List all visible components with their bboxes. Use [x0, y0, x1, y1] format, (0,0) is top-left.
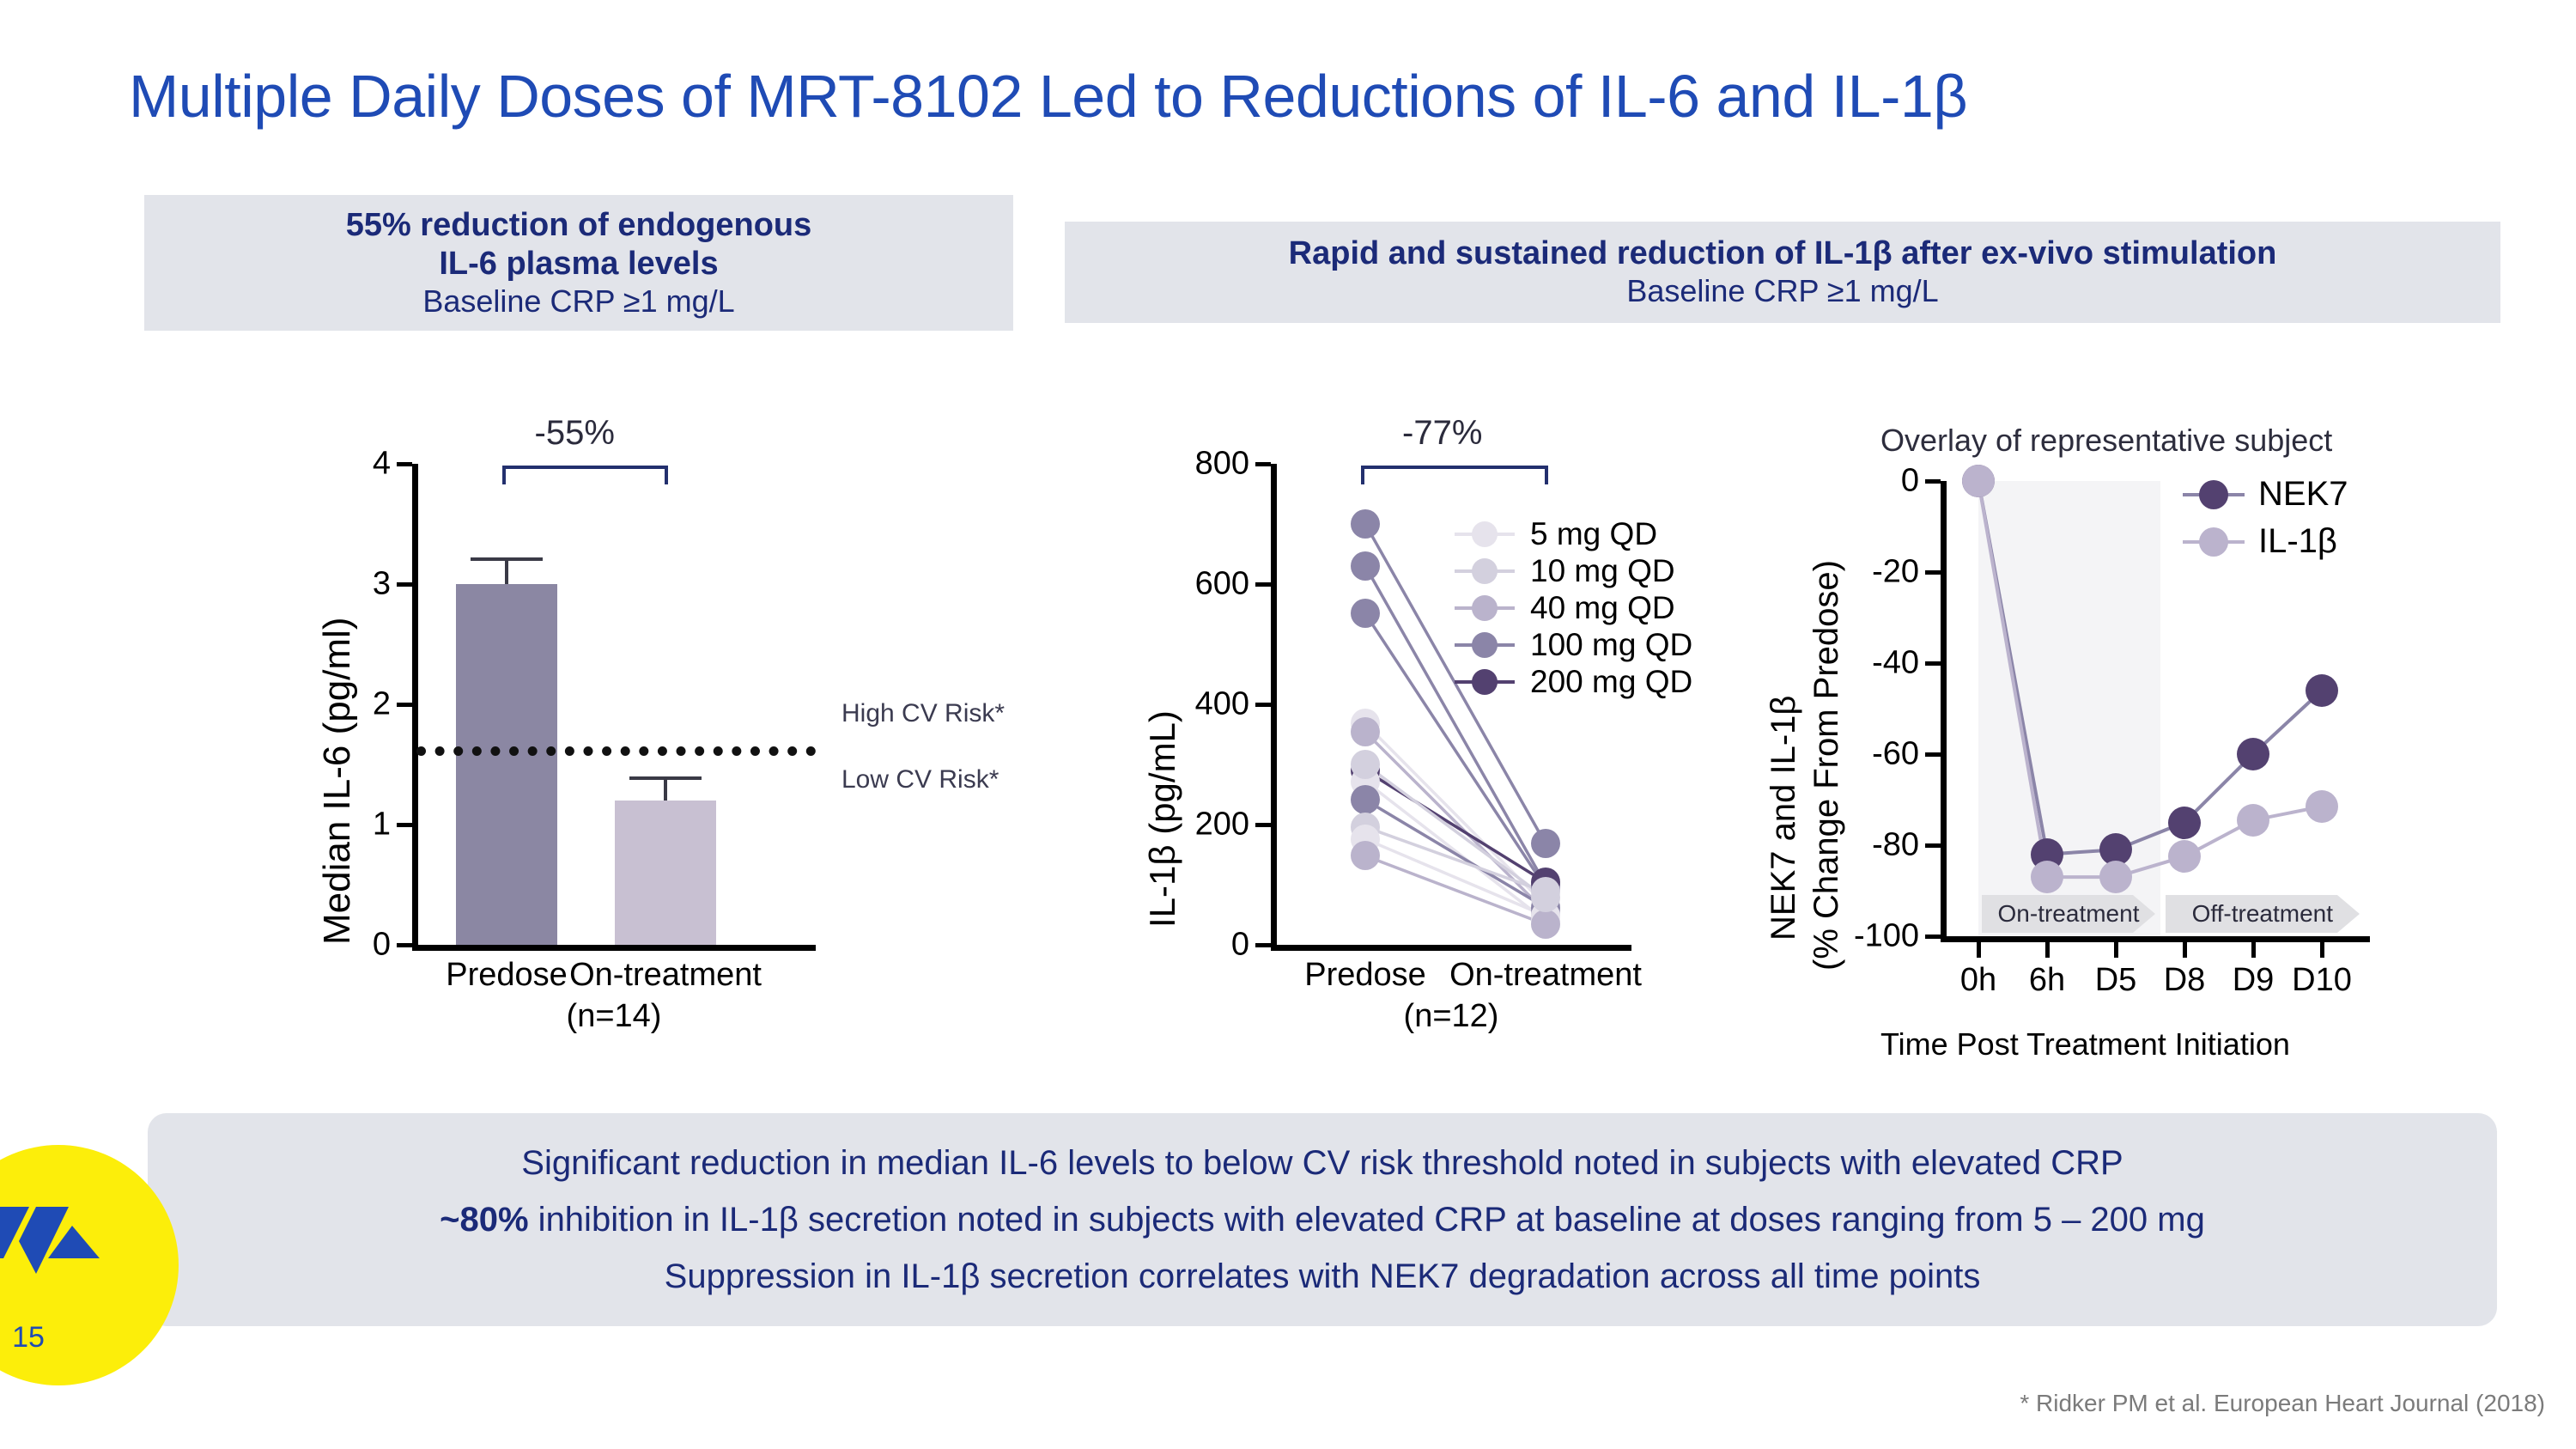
- data-point: [1351, 717, 1380, 746]
- legend-label: 100 mg QD: [1530, 627, 1692, 663]
- summary-line-1: Significant reduction in median IL-6 lev…: [521, 1135, 2123, 1191]
- x-tick-label: On-treatment: [519, 957, 811, 994]
- summary-line-2-emphasis: ~80%: [440, 1201, 528, 1239]
- slide-canvas: Multiple Daily Doses of MRT-8102 Led to …: [0, 0, 2576, 1449]
- summary-line-3: Suppression in IL-1β secretion correlate…: [665, 1248, 1981, 1305]
- y-tick: [397, 703, 412, 707]
- comparison-bracket: [1361, 466, 1548, 484]
- data-point-nek7: [2168, 807, 2201, 839]
- legend-label: IL-1β: [2258, 522, 2337, 561]
- comparison-bracket: [502, 466, 668, 484]
- y-tick: [1925, 935, 1941, 939]
- sample-size-label: (n=12): [1271, 998, 1631, 1035]
- data-point: [1351, 750, 1380, 779]
- banner-il6-line3: Baseline CRP ≥1 mg/L: [422, 283, 734, 320]
- y-axis-label-line1: NEK7 and IL-1β: [1765, 696, 1803, 941]
- y-tick-label: 3: [331, 566, 391, 603]
- legend-label: 5 mg QD: [1530, 516, 1657, 552]
- monte-rosa-logo-icon: [0, 1207, 118, 1301]
- timecourse-xaxis-label: Time Post Treatment Initiation: [1880, 1026, 2290, 1062]
- page-title: Multiple Daily Doses of MRT-8102 Led to …: [129, 62, 2499, 131]
- y-tick: [1255, 703, 1271, 707]
- y-tick: [397, 823, 412, 827]
- legend-swatch: [2181, 480, 2246, 509]
- legend-label: 10 mg QD: [1530, 553, 1675, 589]
- legend-item: 100 mg QD: [1451, 626, 1692, 663]
- banner-il1b-line1: Rapid and sustained reduction of IL-1β a…: [1289, 234, 2277, 273]
- legend-item: 40 mg QD: [1451, 589, 1692, 626]
- x-tick: [2045, 942, 2050, 958]
- y-tick: [1925, 752, 1941, 757]
- y-tick: [1255, 823, 1271, 827]
- phase-on-treatment: On-treatment: [1982, 895, 2155, 933]
- y-tick: [1925, 661, 1941, 666]
- legend-item: 5 mg QD: [1451, 515, 1692, 552]
- legend-swatch: [1451, 558, 1518, 584]
- legend-swatch-dot: [1472, 595, 1498, 621]
- y-tick-label: 4: [331, 446, 391, 483]
- data-point-il1: [2168, 840, 2201, 873]
- y-tick: [1255, 582, 1271, 587]
- sample-size-label: (n=14): [412, 998, 816, 1035]
- data-point: [1531, 883, 1560, 912]
- data-point-il1: [1962, 465, 1995, 497]
- on-treatment-shading: [1978, 481, 2160, 936]
- footnote-citation: * Ridker PM et al. European Heart Journa…: [2020, 1390, 2545, 1417]
- legend-swatch-dot: [1472, 669, 1498, 695]
- data-point: [1531, 829, 1560, 858]
- legend-swatch-dot: [1472, 521, 1498, 547]
- data-point-il1: [2237, 804, 2269, 837]
- legend-swatch-dot: [1472, 632, 1498, 658]
- y-tick: [1925, 570, 1941, 575]
- data-point: [1351, 785, 1380, 814]
- x-axis: [1271, 945, 1631, 951]
- bar-on-treatment: [615, 801, 716, 945]
- x-tick: [1977, 942, 1981, 958]
- error-bar-cap: [629, 776, 702, 780]
- data-point: [1351, 509, 1380, 539]
- legend-swatch-dot: [2199, 480, 2228, 509]
- data-point: [1351, 551, 1380, 581]
- summary-box: Significant reduction in median IL-6 lev…: [148, 1113, 2497, 1326]
- y-axis-label: IL-1β (pg/mL): [1142, 710, 1183, 928]
- x-tick: [2183, 942, 2187, 958]
- summary-line-2: ~80% inhibition in IL-1β secretion noted…: [440, 1191, 2205, 1248]
- x-tick: [2320, 942, 2324, 958]
- y-tick-label: 0: [1812, 463, 1919, 500]
- legend-swatch-dot: [1472, 558, 1498, 584]
- x-tick: [2251, 942, 2256, 958]
- error-bar: [505, 557, 508, 584]
- legend-item: NEK7: [2181, 471, 2348, 518]
- x-axis: [1941, 936, 2370, 942]
- x-tick: [2114, 942, 2118, 958]
- legend-label: NEK7: [2258, 475, 2348, 514]
- x-axis: [412, 945, 816, 951]
- y-axis-label: Median IL-6 (pg/ml): [316, 618, 359, 945]
- legend-swatch: [2181, 527, 2246, 557]
- timecourse-title: Overlay of representative subject: [1880, 423, 2332, 459]
- reduction-annotation: -55%: [535, 414, 615, 453]
- y-tick: [1925, 843, 1941, 848]
- cv-risk-threshold-line: [416, 746, 816, 756]
- y-axis-label-line2: (% Change From Predose): [1807, 560, 1846, 971]
- high-cv-risk-label: High CV Risk*: [841, 699, 1005, 728]
- legend-item: 10 mg QD: [1451, 552, 1692, 589]
- y-tick-label: 600: [1151, 566, 1249, 603]
- reduction-annotation: -77%: [1402, 414, 1482, 453]
- y-axis: [1941, 481, 1947, 936]
- x-tick-label: On-treatment: [1400, 957, 1692, 994]
- y-axis: [412, 464, 418, 945]
- legend-label: 40 mg QD: [1530, 590, 1675, 626]
- banner-il1b: Rapid and sustained reduction of IL-1β a…: [1065, 222, 2500, 323]
- data-point-il1: [2099, 861, 2132, 893]
- error-bar: [664, 776, 667, 801]
- data-point: [1351, 599, 1380, 628]
- y-tick-label: 800: [1151, 446, 1249, 483]
- data-point-il1: [2031, 861, 2063, 893]
- y-tick: [1255, 943, 1271, 947]
- legend-swatch: [1451, 632, 1518, 658]
- legend-swatch: [1451, 521, 1518, 547]
- y-axis: [1271, 464, 1277, 945]
- legend-item: 200 mg QD: [1451, 663, 1692, 700]
- bar-predose: [456, 584, 557, 945]
- y-tick: [397, 462, 412, 466]
- data-point-il1: [2306, 790, 2338, 823]
- x-tick-label: D10: [2253, 962, 2391, 999]
- low-cv-risk-label: Low CV Risk*: [841, 765, 999, 795]
- y-tick: [397, 943, 412, 947]
- data-point: [1351, 841, 1380, 870]
- dose-legend: 5 mg QD10 mg QD40 mg QD100 mg QD200 mg Q…: [1451, 515, 1692, 700]
- banner-il1b-line2: Baseline CRP ≥1 mg/L: [1626, 273, 1938, 309]
- legend-swatch: [1451, 669, 1518, 695]
- data-point-nek7: [2306, 674, 2338, 707]
- median-il6-bar-chart: 01234High CV Risk*Low CV Risk*PredoseOn-…: [309, 447, 910, 996]
- summary-line-2-rest: inhibition in IL-1β secretion noted in s…: [529, 1201, 2205, 1239]
- legend-label: 200 mg QD: [1530, 664, 1692, 700]
- y-tick: [397, 582, 412, 587]
- error-bar-cap: [471, 557, 543, 561]
- legend-swatch-dot: [2199, 527, 2228, 557]
- banner-il6-line2: IL-6 plasma levels: [439, 245, 718, 283]
- data-point-nek7: [2237, 738, 2269, 770]
- page-number: 15: [0, 1321, 118, 1355]
- y-tick: [1925, 479, 1941, 484]
- data-point: [1531, 910, 1560, 939]
- phase-off-treatment: Off-treatment: [2166, 895, 2360, 933]
- analyte-legend: NEK7IL-1β: [2181, 471, 2348, 565]
- legend-item: IL-1β: [2181, 518, 2348, 565]
- banner-il6: 55% reduction of endogenous IL-6 plasma …: [144, 195, 1013, 331]
- legend-swatch: [1451, 595, 1518, 621]
- y-tick: [1255, 462, 1271, 466]
- banner-il6-line1: 55% reduction of endogenous: [346, 206, 812, 245]
